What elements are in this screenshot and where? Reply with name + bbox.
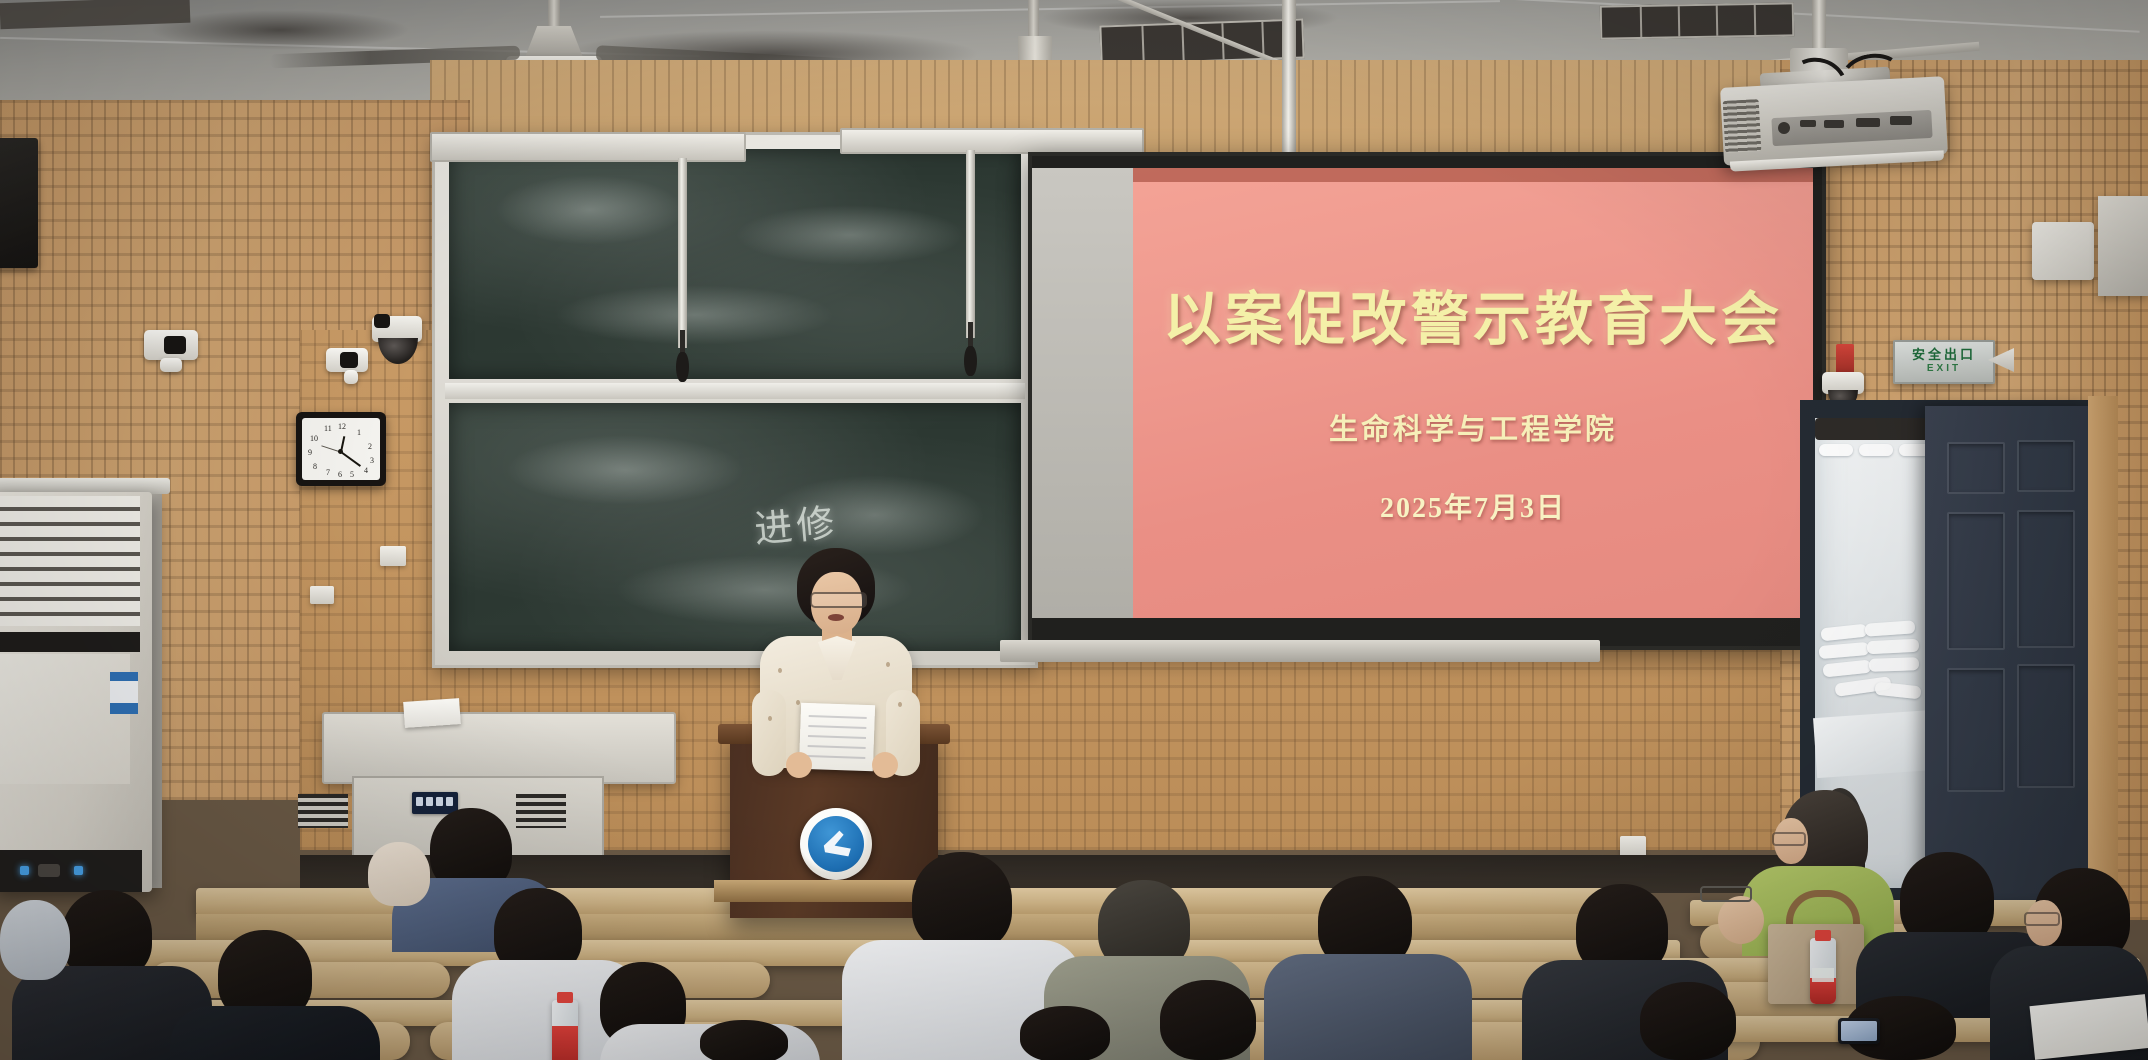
screen-side-panel	[1032, 168, 1140, 618]
exit-sign: 安全出口 EXIT	[1893, 340, 1995, 384]
bottle-cap-2	[1815, 930, 1831, 941]
audience-head	[1640, 982, 1736, 1060]
exit-sign-chinese: 安全出口	[1912, 348, 1976, 361]
wall-socket-2	[310, 586, 334, 604]
wall-device-box	[2032, 222, 2094, 280]
wall-speaker-left	[0, 138, 38, 268]
audience-head	[0, 900, 70, 980]
speaker-glasses	[810, 592, 867, 608]
audience-glasses	[2024, 912, 2060, 926]
lecture-hall-photo: 进修	[0, 0, 2148, 1060]
slide-top-band	[1133, 168, 1813, 182]
board-rail-left	[430, 132, 746, 162]
ceiling-vent-grille-2	[1600, 2, 1795, 39]
wall-socket-1	[380, 546, 406, 566]
cabinet-vent-2	[298, 794, 348, 828]
emblem-mark-icon	[822, 830, 852, 860]
audience-shoulders	[1264, 954, 1472, 1060]
smartphone[interactable]	[1838, 1018, 1880, 1044]
water-bottle-clear	[1810, 938, 1836, 1004]
door-frame	[2088, 396, 2118, 916]
audience-head	[1020, 1006, 1110, 1060]
board-rail-right	[840, 128, 1144, 154]
screen-bottom-bar	[1000, 640, 1600, 662]
audience-glasses	[1772, 832, 1806, 846]
ac-energy-label	[110, 672, 138, 714]
audience-head	[368, 842, 430, 906]
fire-alarm-box	[1836, 344, 1854, 374]
slide-content: 以案促改警示教育大会 生命科学与工程学院 2025年7月3日	[1133, 168, 1813, 618]
podium-emblem	[800, 808, 872, 880]
audience-head	[700, 1020, 788, 1060]
audience-head	[1160, 980, 1256, 1060]
exit-sign-english: EXIT	[1927, 361, 1961, 376]
classroom-door[interactable]	[1925, 406, 2093, 906]
audience-shoulders	[170, 1006, 380, 1060]
slide-subtitle: 生命科学与工程学院	[1133, 406, 1813, 448]
blackboard	[432, 132, 1038, 668]
wall-panel-right	[2098, 196, 2148, 296]
cabinet-vent	[516, 794, 566, 828]
wall-clock: 12 1 2 3 4 5 6 7 8 9 10 11	[296, 412, 386, 486]
slide-title: 以案促改警示教育大会	[1133, 272, 1813, 356]
eyeglasses-on-desk	[1700, 886, 1752, 902]
bottle-cap	[557, 992, 573, 1003]
blackboard-chalk-text: 进修	[752, 491, 840, 553]
desk-papers	[403, 698, 461, 728]
audience-head	[912, 852, 1012, 952]
water-bottle-red	[552, 1000, 578, 1060]
slide-date: 2025年7月3日	[1133, 486, 1813, 526]
teacher-desk	[322, 712, 676, 784]
cabinet-label	[412, 792, 458, 814]
